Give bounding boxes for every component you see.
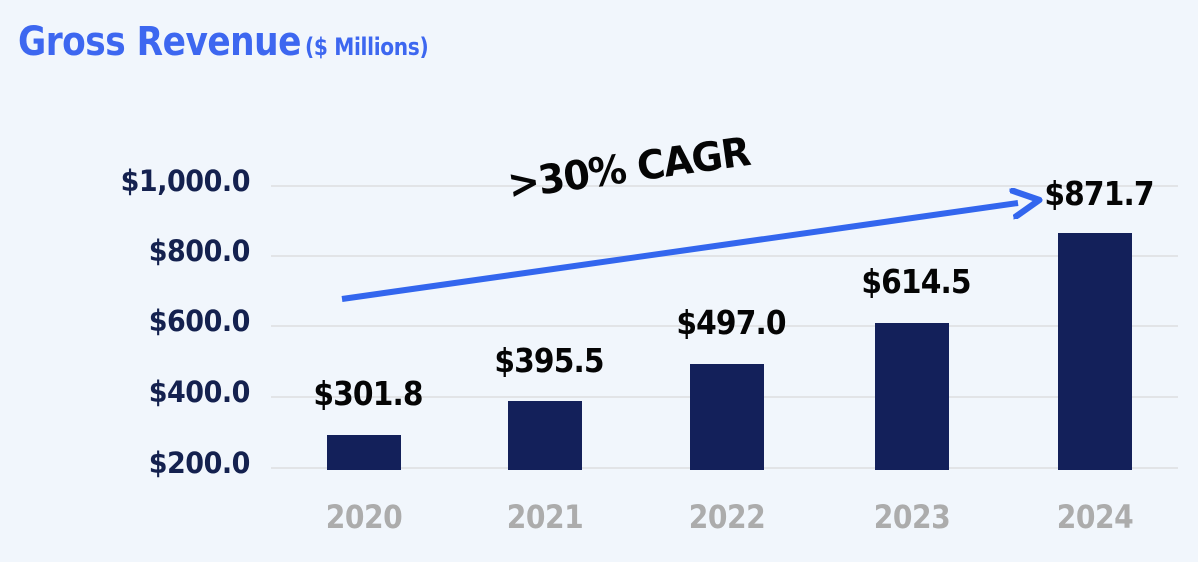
bar-2020[interactable] [327,435,401,470]
bar-value-label-2020: $301.8 [299,374,438,413]
bar-value-label-2022: $497.0 [662,303,801,342]
y-axis-tick-label: $800.0 [27,234,250,268]
bar-value-label-2021: $395.5 [480,341,619,380]
chart-canvas: Gross Revenue ($ Millions) $1,000.0$800.… [0,0,1198,562]
bar-2021[interactable] [508,401,582,470]
bar-2023[interactable] [875,323,949,470]
x-axis-tick-label-2024: 2024 [1027,498,1163,536]
bar-2024[interactable] [1058,233,1132,470]
y-axis-tick-label: $600.0 [27,304,250,338]
plot-area: $1,000.0$800.0$600.0$400.0$200.0$301.820… [0,0,1198,562]
x-axis-tick-label-2021: 2021 [477,498,613,536]
bar-value-label-2024: $871.7 [1030,174,1169,213]
y-axis-tick-label: $400.0 [27,375,250,409]
x-axis-tick-label-2020: 2020 [296,498,432,536]
gridline [271,255,1178,257]
x-axis-tick-label-2023: 2023 [844,498,980,536]
y-axis-tick-label: $1,000.0 [27,164,250,198]
bar-value-label-2023: $614.5 [847,262,986,301]
y-axis-tick-label: $200.0 [27,446,250,480]
bar-2022[interactable] [690,364,764,470]
x-axis-tick-label-2022: 2022 [659,498,795,536]
